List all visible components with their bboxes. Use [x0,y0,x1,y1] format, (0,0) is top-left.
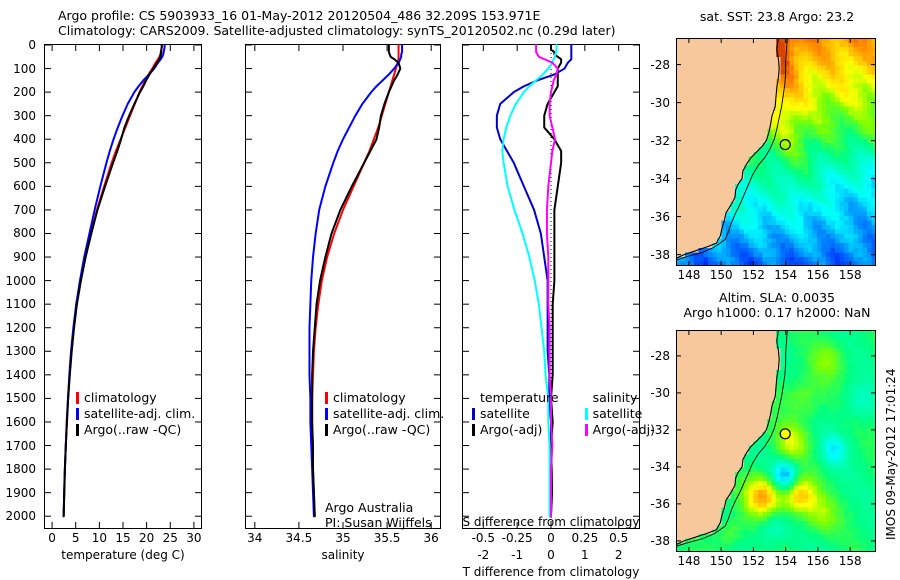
map-y-tick-label: -34 [650,172,670,186]
x-tick-label: 0 [547,531,555,545]
sla-map-title: Altim. SLA: 0.0035 Argo h1000: 0.17 h200… [672,290,882,320]
legend-color-swatch [76,392,79,404]
y-tick-label: 300 [13,109,36,123]
legend-color-swatch [325,424,328,436]
sla-map-x-tick-labels: 148150152154156158 [676,554,876,570]
map-x-tick-label: 158 [839,268,862,282]
temperature-y-tick-labels: 0100200300400500600700800900100011001200… [0,44,40,529]
page-title: Argo profile: CS 5903933_16 01-May-2012 … [58,8,615,38]
sst-map-y-tick-labels: -28-30-32-34-36-38 [644,38,674,266]
map-y-tick-label: -36 [650,210,670,224]
sla-map-y-tick-labels: -28-30-32-34-36-38 [644,330,674,552]
y-tick-label: 800 [13,226,36,240]
x-tick-label: 30 [186,531,201,545]
title-line-1: Argo profile: CS 5903933_16 01-May-2012 … [58,8,615,23]
x-tick-label: 0 [48,531,56,545]
map-x-tick-label: 152 [742,554,765,568]
temperature-legend-item: climatology [76,390,195,406]
attribution: Argo Australia PI: Susan Wijffels [325,500,432,530]
sst-map-title: sat. SST: 23.8 Argo: 23.2 [672,9,882,24]
y-tick-label: 1900 [5,486,36,500]
map-x-tick-label: 150 [710,268,733,282]
salinity-plot-area[interactable] [245,44,441,529]
legend-label: satellite [593,406,643,421]
map-y-tick-label: -34 [650,460,670,474]
map-x-tick-label: 148 [677,268,700,282]
x-tick-label: 15 [115,531,130,545]
legend-label: climatology [84,390,157,405]
salinity-legend-item: satellite-adj. clim. [325,406,444,422]
legend-label: satellite-adj. clim. [333,406,444,421]
difference-plot-area[interactable] [462,44,640,529]
x-tick-label: 5 [72,531,80,545]
sla-map-canvas[interactable] [676,330,876,552]
attribution-line-2: PI: Susan Wijffels [325,515,432,530]
difference-salinity-tick-labels: -0.5-0.2500.250.5 [462,531,640,547]
difference-top-axis-label: S difference from climatology [462,515,640,529]
legend-label: climatology [333,390,406,405]
x-tick-label: 2 [615,548,623,562]
y-tick-label: 400 [13,132,36,146]
temperature-legend: climatologysatellite-adj. clim.Argo(..ra… [76,390,195,438]
x-tick-label: 20 [139,531,154,545]
x-tick-label: 35.5 [374,531,401,545]
map-x-tick-label: 150 [710,554,733,568]
temperature-plot-area[interactable] [44,44,202,529]
salinity-legend-item: Argo(..raw -QC) [325,422,444,438]
temperature-panel [44,44,202,529]
legend-color-swatch [472,424,475,436]
temperature-axis-label: temperature (deg C) [44,548,202,562]
legend-color-swatch [472,408,475,420]
sla-title-line-1: Altim. SLA: 0.0035 [672,290,882,305]
salinity-legend: climatologysatellite-adj. clim.Argo(..ra… [325,390,444,438]
x-tick-label: -2 [477,548,489,562]
x-tick-label: 35 [335,531,350,545]
difference-legend: temperaturesatelliteArgo(-adj)salinitysa… [472,390,655,438]
map-x-tick-label: 148 [677,554,700,568]
legend-color-swatch [76,424,79,436]
y-tick-label: 1700 [5,439,36,453]
legend-label: Argo(..raw -QC) [84,422,181,437]
map-x-tick-label: 156 [806,268,829,282]
difference-legend-column-temperature: temperaturesatelliteArgo(-adj) [472,390,559,438]
y-tick-label: 2000 [5,509,36,523]
y-tick-label: 500 [13,156,36,170]
legend-label: satellite [480,406,530,421]
map-y-tick-label: -30 [650,386,670,400]
map-x-tick-label: 152 [742,268,765,282]
sla-map[interactable] [676,330,876,552]
title-line-2: Climatology: CARS2009. Satellite-adjuste… [58,23,615,38]
x-tick-label: 0.5 [609,531,628,545]
y-tick-label: 1100 [5,297,36,311]
sla-profile-marker [780,429,790,439]
sla-title-line-2: Argo h1000: 0.17 h2000: NaN [672,305,882,320]
temperature-x-tick-labels: 051015202530 [44,531,202,547]
y-tick-label: 100 [13,62,36,76]
y-tick-label: 900 [13,250,36,264]
difference-legend-item: satellite [472,406,559,422]
legend-label: satellite-adj. clim. [84,406,195,421]
sst-map[interactable] [676,38,876,266]
map-y-tick-label: -38 [650,248,670,262]
map-x-tick-label: 156 [806,554,829,568]
x-tick-label: 36 [424,531,439,545]
y-tick-label: 0 [28,38,36,52]
temperature-legend-item: satellite-adj. clim. [76,406,195,422]
y-tick-label: 1300 [5,344,36,358]
legend-label: Argo(..raw -QC) [333,422,430,437]
y-tick-label: 1600 [5,415,36,429]
difference-legend-title-temperature: temperature [480,390,559,406]
x-tick-label: -0.5 [472,531,495,545]
map-y-tick-label: -30 [650,96,670,110]
x-tick-label: 25 [163,531,178,545]
x-tick-label: 34 [247,531,262,545]
difference-panel [462,44,640,529]
legend-label: Argo(-adj) [480,422,542,437]
legend-color-swatch [585,408,588,420]
x-tick-label: 10 [92,531,107,545]
map-y-tick-label: -32 [650,134,670,148]
y-tick-label: 700 [13,203,36,217]
legend-color-swatch [76,408,79,420]
difference-legend-item: Argo(-adj) [472,422,559,438]
map-x-tick-label: 154 [774,268,797,282]
x-tick-label: 34.5 [286,531,313,545]
y-tick-label: 1800 [5,462,36,476]
difference-bottom-axis-label: T difference from climatology [462,565,640,579]
legend-color-swatch [325,392,328,404]
legend-color-swatch [585,424,588,436]
x-tick-label: -0.25 [502,531,533,545]
salinity-legend-item: climatology [325,390,444,406]
map-x-tick-label: 154 [774,554,797,568]
map-x-tick-label: 158 [839,554,862,568]
map-y-tick-label: -28 [650,349,670,363]
y-tick-label: 200 [13,85,36,99]
x-tick-label: 0 [547,548,555,562]
y-tick-label: 1200 [5,321,36,335]
difference-x-tick-labels: -2-1012 [462,548,640,564]
sst-map-x-tick-labels: 148150152154156158 [676,268,876,284]
x-tick-label: 1 [581,548,589,562]
attribution-line-1: Argo Australia [325,500,432,515]
temperature-legend-item: Argo(..raw -QC) [76,422,195,438]
salinity-x-tick-labels: 3434.53535.536 [245,531,441,547]
map-y-tick-label: -38 [650,534,670,548]
map-y-tick-label: -36 [650,497,670,511]
x-tick-label: 0.25 [571,531,598,545]
y-tick-label: 600 [13,179,36,193]
salinity-panel [245,44,441,529]
imos-timestamp: IMOS 09-May-2012 17:01:24 [884,368,898,540]
y-tick-label: 1500 [5,391,36,405]
sst-map-canvas[interactable] [676,38,876,266]
map-y-tick-label: -32 [650,423,670,437]
map-y-tick-label: -28 [650,58,670,72]
salinity-axis-label: salinity [245,548,441,562]
x-tick-label: -1 [511,548,523,562]
y-tick-label: 1000 [5,274,36,288]
legend-color-swatch [325,408,328,420]
y-tick-label: 1400 [5,368,36,382]
